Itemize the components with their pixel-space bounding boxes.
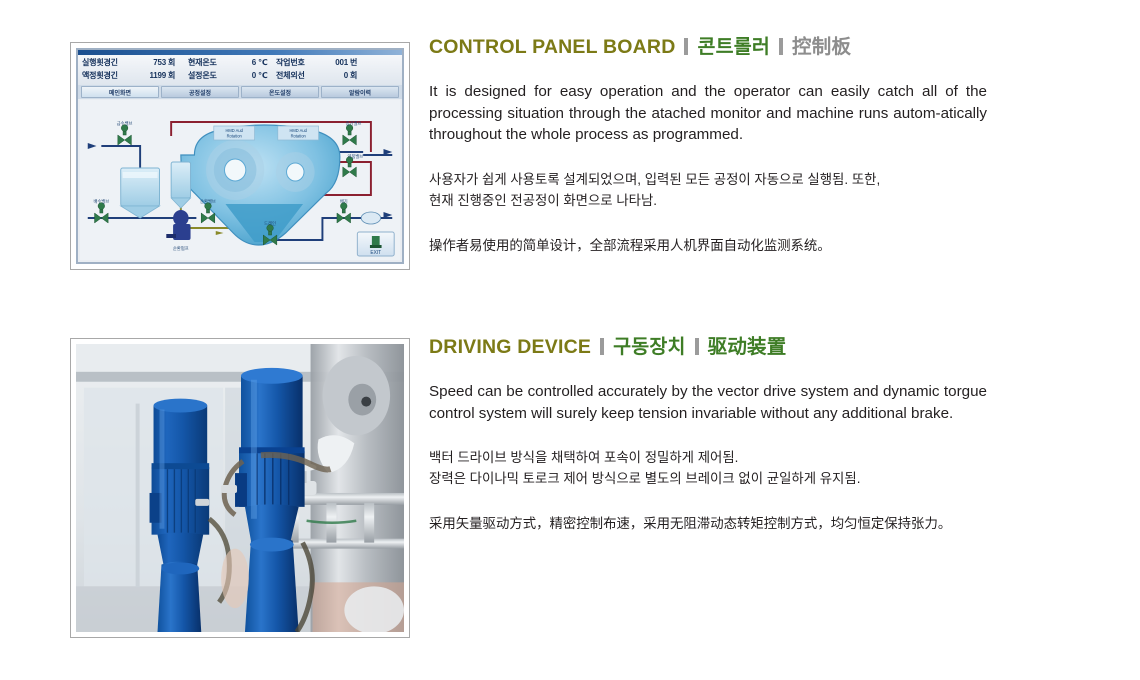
hmi-screen: 실행횟경긴 753 회 현재온도 6 ℃ 작업번호 001 번 액정횟경긴 11… bbox=[76, 48, 404, 264]
heading-korean-2: 구동장치 bbox=[613, 330, 686, 359]
paragraph-korean-2-line-2: 장력은 다이나믹 토로크 제어 방식으로 별도의 브레이크 없이 균일하게 유지… bbox=[429, 468, 1001, 489]
label-valve-center: 순환밸브 bbox=[200, 198, 216, 204]
label-valve-top-right: 증기밸브 bbox=[346, 120, 362, 127]
hmi-label-liquid-count: 액정횟경긴 bbox=[82, 70, 132, 81]
hmi-status-bar: 실행횟경긴 753 회 현재온도 6 ℃ 작업번호 001 번 액정횟경긴 11… bbox=[78, 55, 402, 86]
heading-separator-icon bbox=[695, 338, 699, 355]
label-pump: 순환펌프 bbox=[173, 245, 189, 251]
hmi-unit-run-count: 회 bbox=[166, 57, 184, 68]
hmi-exit-button: EXIT bbox=[357, 232, 394, 256]
hmi-unit-total-count: 회 bbox=[348, 70, 364, 81]
content-column-2: DRIVING DEVICE 구동장치 驱动装置 Speed can be co… bbox=[429, 330, 1029, 534]
section-heading-2: DRIVING DEVICE 구동장치 驱动装置 bbox=[429, 330, 1029, 359]
content-column-1: CONTROL PANEL BOARD 콘트롤러 控制板 It is desig… bbox=[429, 30, 1029, 256]
heading-english-1: CONTROL PANEL BOARD bbox=[429, 36, 675, 59]
svg-text:Rotation: Rotation bbox=[227, 133, 243, 138]
figure-inner bbox=[76, 344, 404, 632]
figure-inner: 실행횟경긴 753 회 현재온도 6 ℃ 작업번호 001 번 액정횟경긴 11… bbox=[76, 48, 404, 264]
label-valve-bottom-left: 배수밸브 bbox=[93, 198, 109, 205]
hmi-status-row-1: 실행횟경긴 753 회 현재온도 6 ℃ 작업번호 001 번 bbox=[82, 56, 398, 69]
heading-chinese-2: 驱动装置 bbox=[708, 330, 787, 359]
hmi-mimic-svg: HMD Aud Rotation HMD Aud Rotation bbox=[80, 100, 400, 260]
hmi-unit-liquid-count: 회 bbox=[166, 70, 184, 81]
hmi-value-set-temp: 0 bbox=[232, 71, 256, 80]
heading-separator-icon bbox=[779, 38, 783, 55]
paragraph-korean-1-line-2: 현재 진행중인 전공정이 화면으로 나타남. bbox=[429, 190, 1001, 211]
section-control-panel-board: 실행횟경긴 753 회 현재온도 6 ℃ 작업번호 001 번 액정횟경긴 11… bbox=[0, 30, 1140, 290]
hmi-tab-alarm[interactable]: 알람이력 bbox=[321, 86, 399, 98]
hmi-status-row-2: 액정횟경긴 1199 회 설정온도 0 ℃ 전체외선 0 회 bbox=[82, 69, 398, 82]
section-driving-device: DRIVING DEVICE 구동장치 驱动装置 Speed can be co… bbox=[0, 330, 1140, 650]
hmi-tab-process[interactable]: 공정설정 bbox=[161, 86, 239, 98]
hmi-value-liquid-count: 1199 bbox=[132, 71, 166, 80]
photo-mock-svg bbox=[76, 344, 404, 632]
paragraph-chinese-1: 操作者易使用的简单设计，全部流程采用人机界面自动化监测系统。 bbox=[429, 235, 1001, 256]
paragraph-korean-1-line-1: 사용자가 쉽게 사용토록 설계되었으며, 입력된 모든 공정이 자동으로 실행됨… bbox=[429, 169, 1001, 190]
hmi-value-job-number: 001 bbox=[318, 58, 348, 67]
paragraph-korean-2-line-1: 백터 드라이브 방식을 채택하여 포속이 정밀하게 제어됨. bbox=[429, 447, 1001, 468]
hmi-value-run-count: 753 bbox=[132, 58, 166, 67]
hmi-tab-bar[interactable]: 메인화면 공정설정 온도설정 알람이력 bbox=[78, 85, 402, 99]
label-valve-mid-right: 약품밸브 bbox=[348, 153, 364, 160]
hmi-tab-main[interactable]: 메인화면 bbox=[81, 86, 159, 98]
svg-text:EXIT: EXIT bbox=[370, 250, 381, 256]
paragraph-english-1: It is designed for easy operation and th… bbox=[429, 81, 987, 146]
label-valve-bottom-center: 드레인 bbox=[264, 220, 276, 227]
heading-chinese-1: 控制板 bbox=[792, 30, 851, 59]
paragraph-english-2: Speed can be controlled accurately by th… bbox=[429, 381, 987, 424]
hmi-label-set-temp: 설정온도 bbox=[184, 70, 232, 81]
hmi-unit-job-number: 번 bbox=[348, 57, 364, 68]
heading-separator-icon bbox=[684, 38, 688, 55]
label-valve-right: 배기 bbox=[340, 198, 348, 205]
svg-text:HMD Aud: HMD Aud bbox=[225, 128, 243, 133]
hmi-label-job-number: 작업번호 bbox=[274, 57, 318, 68]
driving-device-photo bbox=[70, 338, 410, 638]
section-heading-1: CONTROL PANEL BOARD 콘트롤러 控制板 bbox=[429, 30, 1029, 59]
hmi-value-total-count: 0 bbox=[318, 71, 348, 80]
label-valve-top-left: 급수밸브 bbox=[117, 120, 133, 127]
photo-drive-motors bbox=[76, 344, 404, 632]
paragraph-chinese-2: 采用矢量驱动方式，精密控制布速，采用无阻滞动态转矩控制方式，均匀恒定保持张力。 bbox=[429, 513, 1001, 534]
hmi-label-run-count: 실행횟경긴 bbox=[82, 57, 132, 68]
hmi-label-total-count: 전체외선 bbox=[274, 70, 318, 81]
control-panel-hmi-screenshot: 실행횟경긴 753 회 현재온도 6 ℃ 작업번호 001 번 액정횟경긴 11… bbox=[70, 42, 410, 270]
svg-text:HMD Aud: HMD Aud bbox=[289, 128, 307, 133]
heading-korean-1: 콘트롤러 bbox=[697, 30, 770, 59]
hmi-process-diagram: HMD Aud Rotation HMD Aud Rotation bbox=[80, 100, 400, 260]
hmi-unit-set-temp: ℃ bbox=[256, 71, 274, 80]
heading-separator-icon bbox=[600, 338, 604, 355]
svg-text:Rotation: Rotation bbox=[291, 133, 307, 138]
heading-english-2: DRIVING DEVICE bbox=[429, 336, 591, 359]
hmi-value-current-temp: 6 bbox=[232, 58, 256, 67]
hmi-label-current-temp: 현재온도 bbox=[184, 57, 232, 68]
hmi-unit-current-temp: ℃ bbox=[256, 58, 274, 67]
hmi-tab-temp[interactable]: 온도설정 bbox=[241, 86, 319, 98]
